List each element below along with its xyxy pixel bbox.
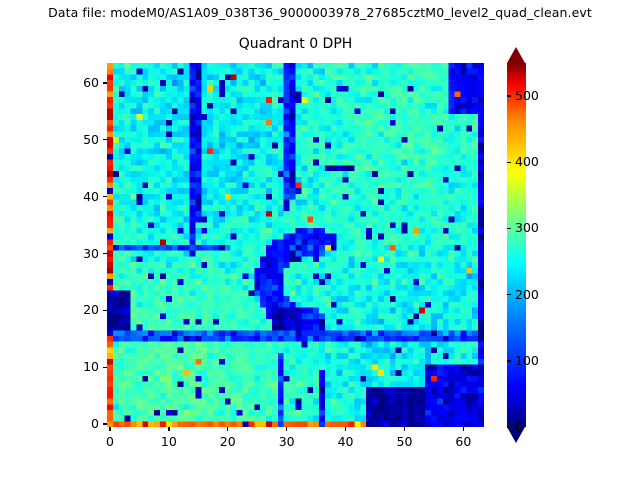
colorbar-tick-label: 0 [515, 419, 523, 434]
y-tick-label: 20 [59, 302, 99, 317]
colorbar-gradient [507, 63, 526, 427]
colorbar-tick-mark [507, 228, 511, 229]
y-tick-mark [103, 196, 107, 197]
y-tick-label: 50 [59, 132, 99, 147]
x-tick-mark [463, 427, 464, 431]
y-tick-mark [103, 253, 107, 254]
colorbar-extend-high-arrow [507, 47, 525, 63]
colorbar-tick-mark [507, 162, 511, 163]
y-tick-mark [103, 423, 107, 424]
x-tick-mark [345, 427, 346, 431]
colorbar[interactable] [507, 63, 526, 427]
y-tick-label: 60 [59, 75, 99, 90]
x-tick-mark [109, 427, 110, 431]
colorbar-tick-mark [507, 360, 511, 361]
y-tick-mark [103, 367, 107, 368]
detector-heatmap-axes[interactable] [107, 63, 484, 427]
chart-title: Quadrant 0 DPH [107, 36, 484, 52]
data-file-caption: Data file: modeM0/AS1A09_038T36_90000039… [0, 5, 640, 20]
x-tick-label: 60 [443, 434, 483, 449]
colorbar-tick-mark [507, 426, 511, 427]
x-tick-label: 20 [208, 434, 248, 449]
heatmap-image [107, 63, 484, 427]
colorbar-tick-label: 200 [515, 287, 539, 302]
y-tick-mark [103, 139, 107, 140]
colorbar-tick-mark [507, 294, 511, 295]
colorbar-tick-label: 500 [515, 88, 539, 103]
y-tick-label: 40 [59, 189, 99, 204]
colorbar-tick-label: 100 [515, 353, 539, 368]
x-tick-label: 10 [149, 434, 189, 449]
y-tick-label: 10 [59, 359, 99, 374]
x-tick-mark [404, 427, 405, 431]
y-tick-label: 0 [59, 416, 99, 431]
x-tick-mark [168, 427, 169, 431]
colorbar-tick-label: 400 [515, 154, 539, 169]
colorbar-tick-label: 300 [515, 220, 539, 235]
x-tick-mark [227, 427, 228, 431]
matplotlib-figure: Data file: modeM0/AS1A09_038T36_90000039… [0, 0, 640, 480]
x-tick-label: 0 [90, 434, 130, 449]
x-tick-mark [286, 427, 287, 431]
x-tick-label: 50 [384, 434, 424, 449]
y-tick-mark [103, 310, 107, 311]
colorbar-tick-mark [507, 95, 511, 96]
x-tick-label: 30 [267, 434, 307, 449]
x-tick-label: 40 [326, 434, 366, 449]
y-tick-label: 30 [59, 246, 99, 261]
y-tick-mark [103, 82, 107, 83]
